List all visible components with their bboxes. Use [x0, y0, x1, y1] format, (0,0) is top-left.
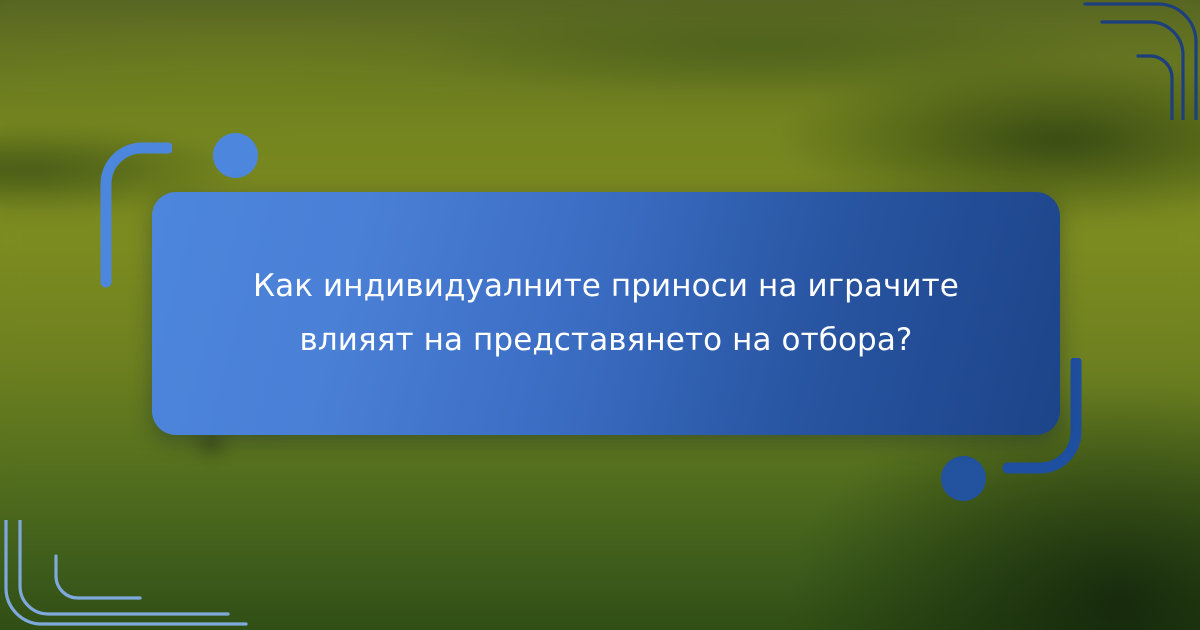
- corner-lines-bottom-left-icon: [0, 520, 250, 630]
- dot-top-left: [213, 133, 258, 178]
- question-card: Как индивидуалните приноси на играчите в…: [152, 192, 1060, 435]
- corner-lines-top-right-icon: [990, 0, 1200, 120]
- question-text: Как индивидуалните приноси на играчите в…: [176, 260, 1036, 367]
- dot-bottom-right: [941, 456, 986, 501]
